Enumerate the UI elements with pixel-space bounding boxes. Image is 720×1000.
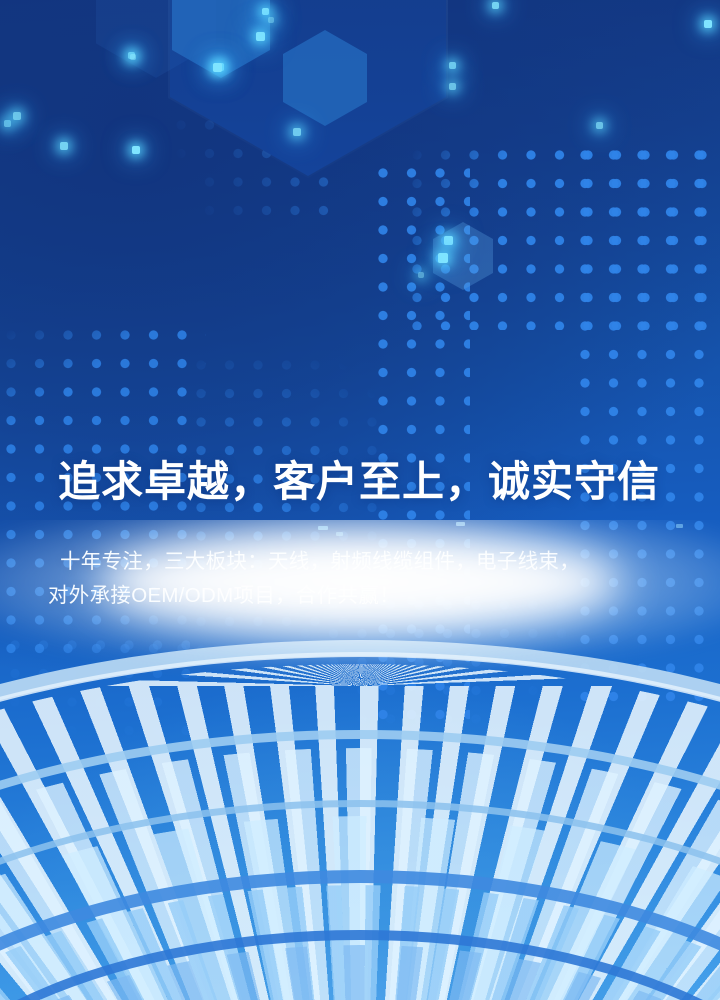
hud-radar-graphic bbox=[0, 520, 720, 1000]
glow-dot-11 bbox=[132, 146, 140, 154]
glow-dot-16 bbox=[13, 112, 21, 120]
glow-dot-13 bbox=[4, 120, 11, 127]
glow-dot-17 bbox=[293, 128, 301, 136]
glow-dot-20 bbox=[418, 272, 424, 278]
glow-dot-18 bbox=[444, 236, 453, 245]
glow-dot-8 bbox=[449, 62, 456, 69]
glow-dot-19 bbox=[438, 253, 448, 263]
glow-dot-5 bbox=[492, 2, 499, 9]
glow-dot-9 bbox=[268, 17, 274, 23]
page-title: 追求卓越，客户至上，诚实守信 bbox=[58, 448, 660, 509]
hud-flare-core bbox=[100, 534, 620, 630]
glow-dot-7 bbox=[130, 54, 136, 60]
hero-banner: 追求卓越，客户至上，诚实守信 十年专注，三大板块：天线，射频线缆组件，电子线束，… bbox=[0, 0, 720, 1000]
glow-dot-6 bbox=[704, 20, 712, 28]
glow-dot-2 bbox=[256, 32, 265, 41]
glow-dot-15 bbox=[596, 122, 603, 129]
glow-dot-12 bbox=[60, 142, 68, 150]
glow-dot-1 bbox=[262, 8, 269, 15]
glow-dot-14 bbox=[449, 83, 456, 90]
glow-dot-10 bbox=[213, 63, 222, 72]
